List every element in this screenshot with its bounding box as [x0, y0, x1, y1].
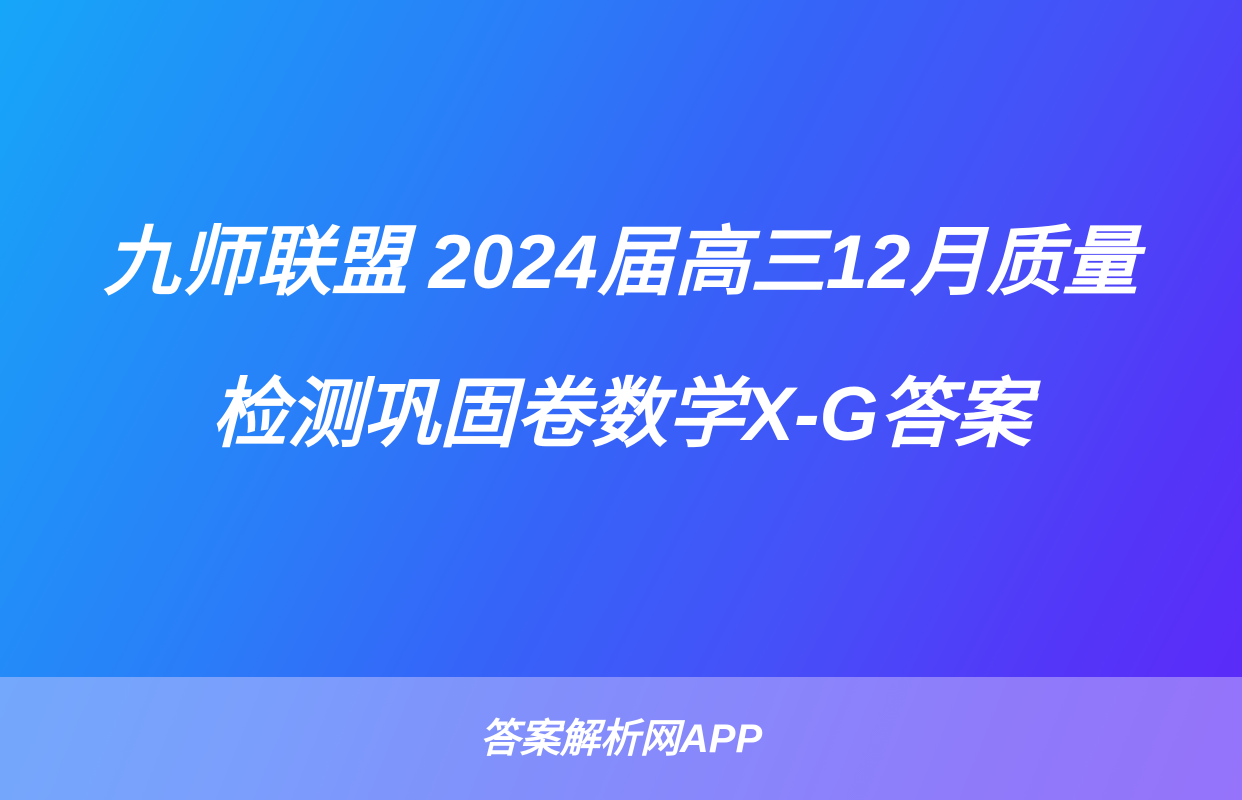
- poster-title: 九师联盟 2024届高三12月质量检测巩固卷数学X-G答案: [90, 187, 1152, 491]
- poster-card: 九师联盟 2024届高三12月质量检测巩固卷数学X-G答案 答案解析网APP: [0, 0, 1242, 800]
- title-block: 九师联盟 2024届高三12月质量检测巩固卷数学X-G答案: [0, 0, 1242, 677]
- watermark-band: 答案解析网APP: [0, 677, 1242, 800]
- watermark-text: 答案解析网APP: [480, 715, 762, 763]
